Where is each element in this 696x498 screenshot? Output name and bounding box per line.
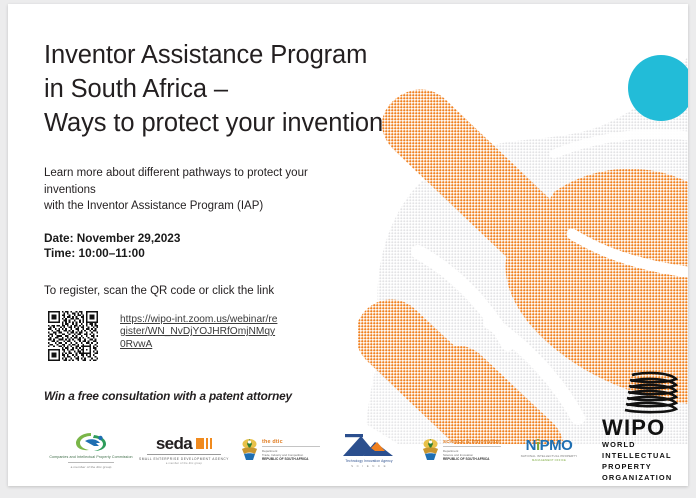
logo-dtic-rule xyxy=(262,446,320,447)
register-instruction: To register, scan the QR code or click t… xyxy=(44,284,464,299)
logo-seda: seda SMALL ENTERPRISE DEVELOPMENT AGENCY… xyxy=(134,435,234,465)
logo-wipo-line1: WORLD xyxy=(602,439,688,450)
registration-link[interactable]: https://wipo-int.zoom.us/webinar/registe… xyxy=(120,311,280,352)
date-time-block: Date: November 29,2023 Time: 10:00–11:00 xyxy=(44,231,464,262)
logo-tia-caption: Technology Innovation Agency xyxy=(345,459,392,463)
logo-dtic-line3: REPUBLIC OF SOUTH AFRICA xyxy=(262,457,320,461)
logo-seda-subcaption: a member of the dtic group xyxy=(166,462,202,465)
registration-block: https://wipo-int.zoom.us/webinar/registe… xyxy=(44,311,464,361)
south-africa-coat-of-arms-icon xyxy=(240,438,259,462)
logo-wipo-line2: INTELLECTUAL PROPERTY xyxy=(602,450,688,472)
logo-the-dtic: the dtic Department: Trade, Industry and… xyxy=(234,438,326,462)
logo-strip: Companies and Intellectual Property Comm… xyxy=(8,414,688,486)
teal-circle-accent xyxy=(628,55,688,121)
page-title: Inventor Assistance Program in South Afr… xyxy=(44,38,464,140)
cipc-swirl-icon xyxy=(74,431,108,453)
south-africa-coat-of-arms-icon xyxy=(421,438,440,462)
tagline: Win a free consultation with a patent at… xyxy=(44,389,464,403)
seda-bars-icon xyxy=(196,438,212,449)
poster-content: Inventor Assistance Program in South Afr… xyxy=(44,38,464,403)
logo-nipmo-subcaption: MANAGEMENT OFFICE xyxy=(532,459,566,462)
logo-wipo: WIPO WORLD INTELLECTUAL PROPERTY ORGANIZ… xyxy=(602,417,688,483)
logo-cipc-caption: Companies and Intellectual Property Comm… xyxy=(49,455,132,460)
logo-wipo-line3: ORGANIZATION xyxy=(602,472,688,483)
logo-nipmo-caption: NATIONAL INTELLECTUAL PROPERTY xyxy=(521,455,577,458)
nipmo-n: N xyxy=(526,437,536,454)
logo-dsi-rule xyxy=(443,446,501,447)
lede-text: Learn more about different pathways to p… xyxy=(44,165,334,215)
logo-nipmo: NiPMO NATIONAL INTELLECTUAL PROPERTY MAN… xyxy=(510,438,588,462)
logo-wipo-wordmark: WIPO xyxy=(602,417,688,439)
logo-seda-caption: SMALL ENTERPRISE DEVELOPMENT AGENCY xyxy=(139,457,229,461)
logo-cipc-rule xyxy=(68,462,114,463)
logo-science-and-innovation: science & innovation Department: Science… xyxy=(412,438,510,462)
logo-dtic-wordmark: the dtic xyxy=(262,439,320,445)
logo-cipc: Companies and Intellectual Property Comm… xyxy=(48,431,134,468)
logo-dsi-wordmark: science & innovation xyxy=(443,439,501,445)
qr-code[interactable] xyxy=(44,311,102,361)
logo-cipc-subcaption: a member of the dtic group xyxy=(71,465,112,469)
wipo-emblem-icon xyxy=(622,371,680,417)
logo-seda-wordmark: seda xyxy=(156,435,192,452)
nipmo-pmo: PMO xyxy=(540,437,573,454)
logo-tia: Technology Innovation Agency S C I E N C… xyxy=(326,432,412,469)
tia-mark-icon xyxy=(341,432,397,458)
logo-tia-subcaption: S C I E N C E xyxy=(351,464,387,468)
logo-nipmo-wordmark: NiPMO xyxy=(526,438,573,453)
logo-seda-rule xyxy=(147,454,221,455)
logo-dsi-line3: REPUBLIC OF SOUTH AFRICA xyxy=(443,457,501,461)
poster-card: Inventor Assistance Program in South Afr… xyxy=(8,4,688,486)
